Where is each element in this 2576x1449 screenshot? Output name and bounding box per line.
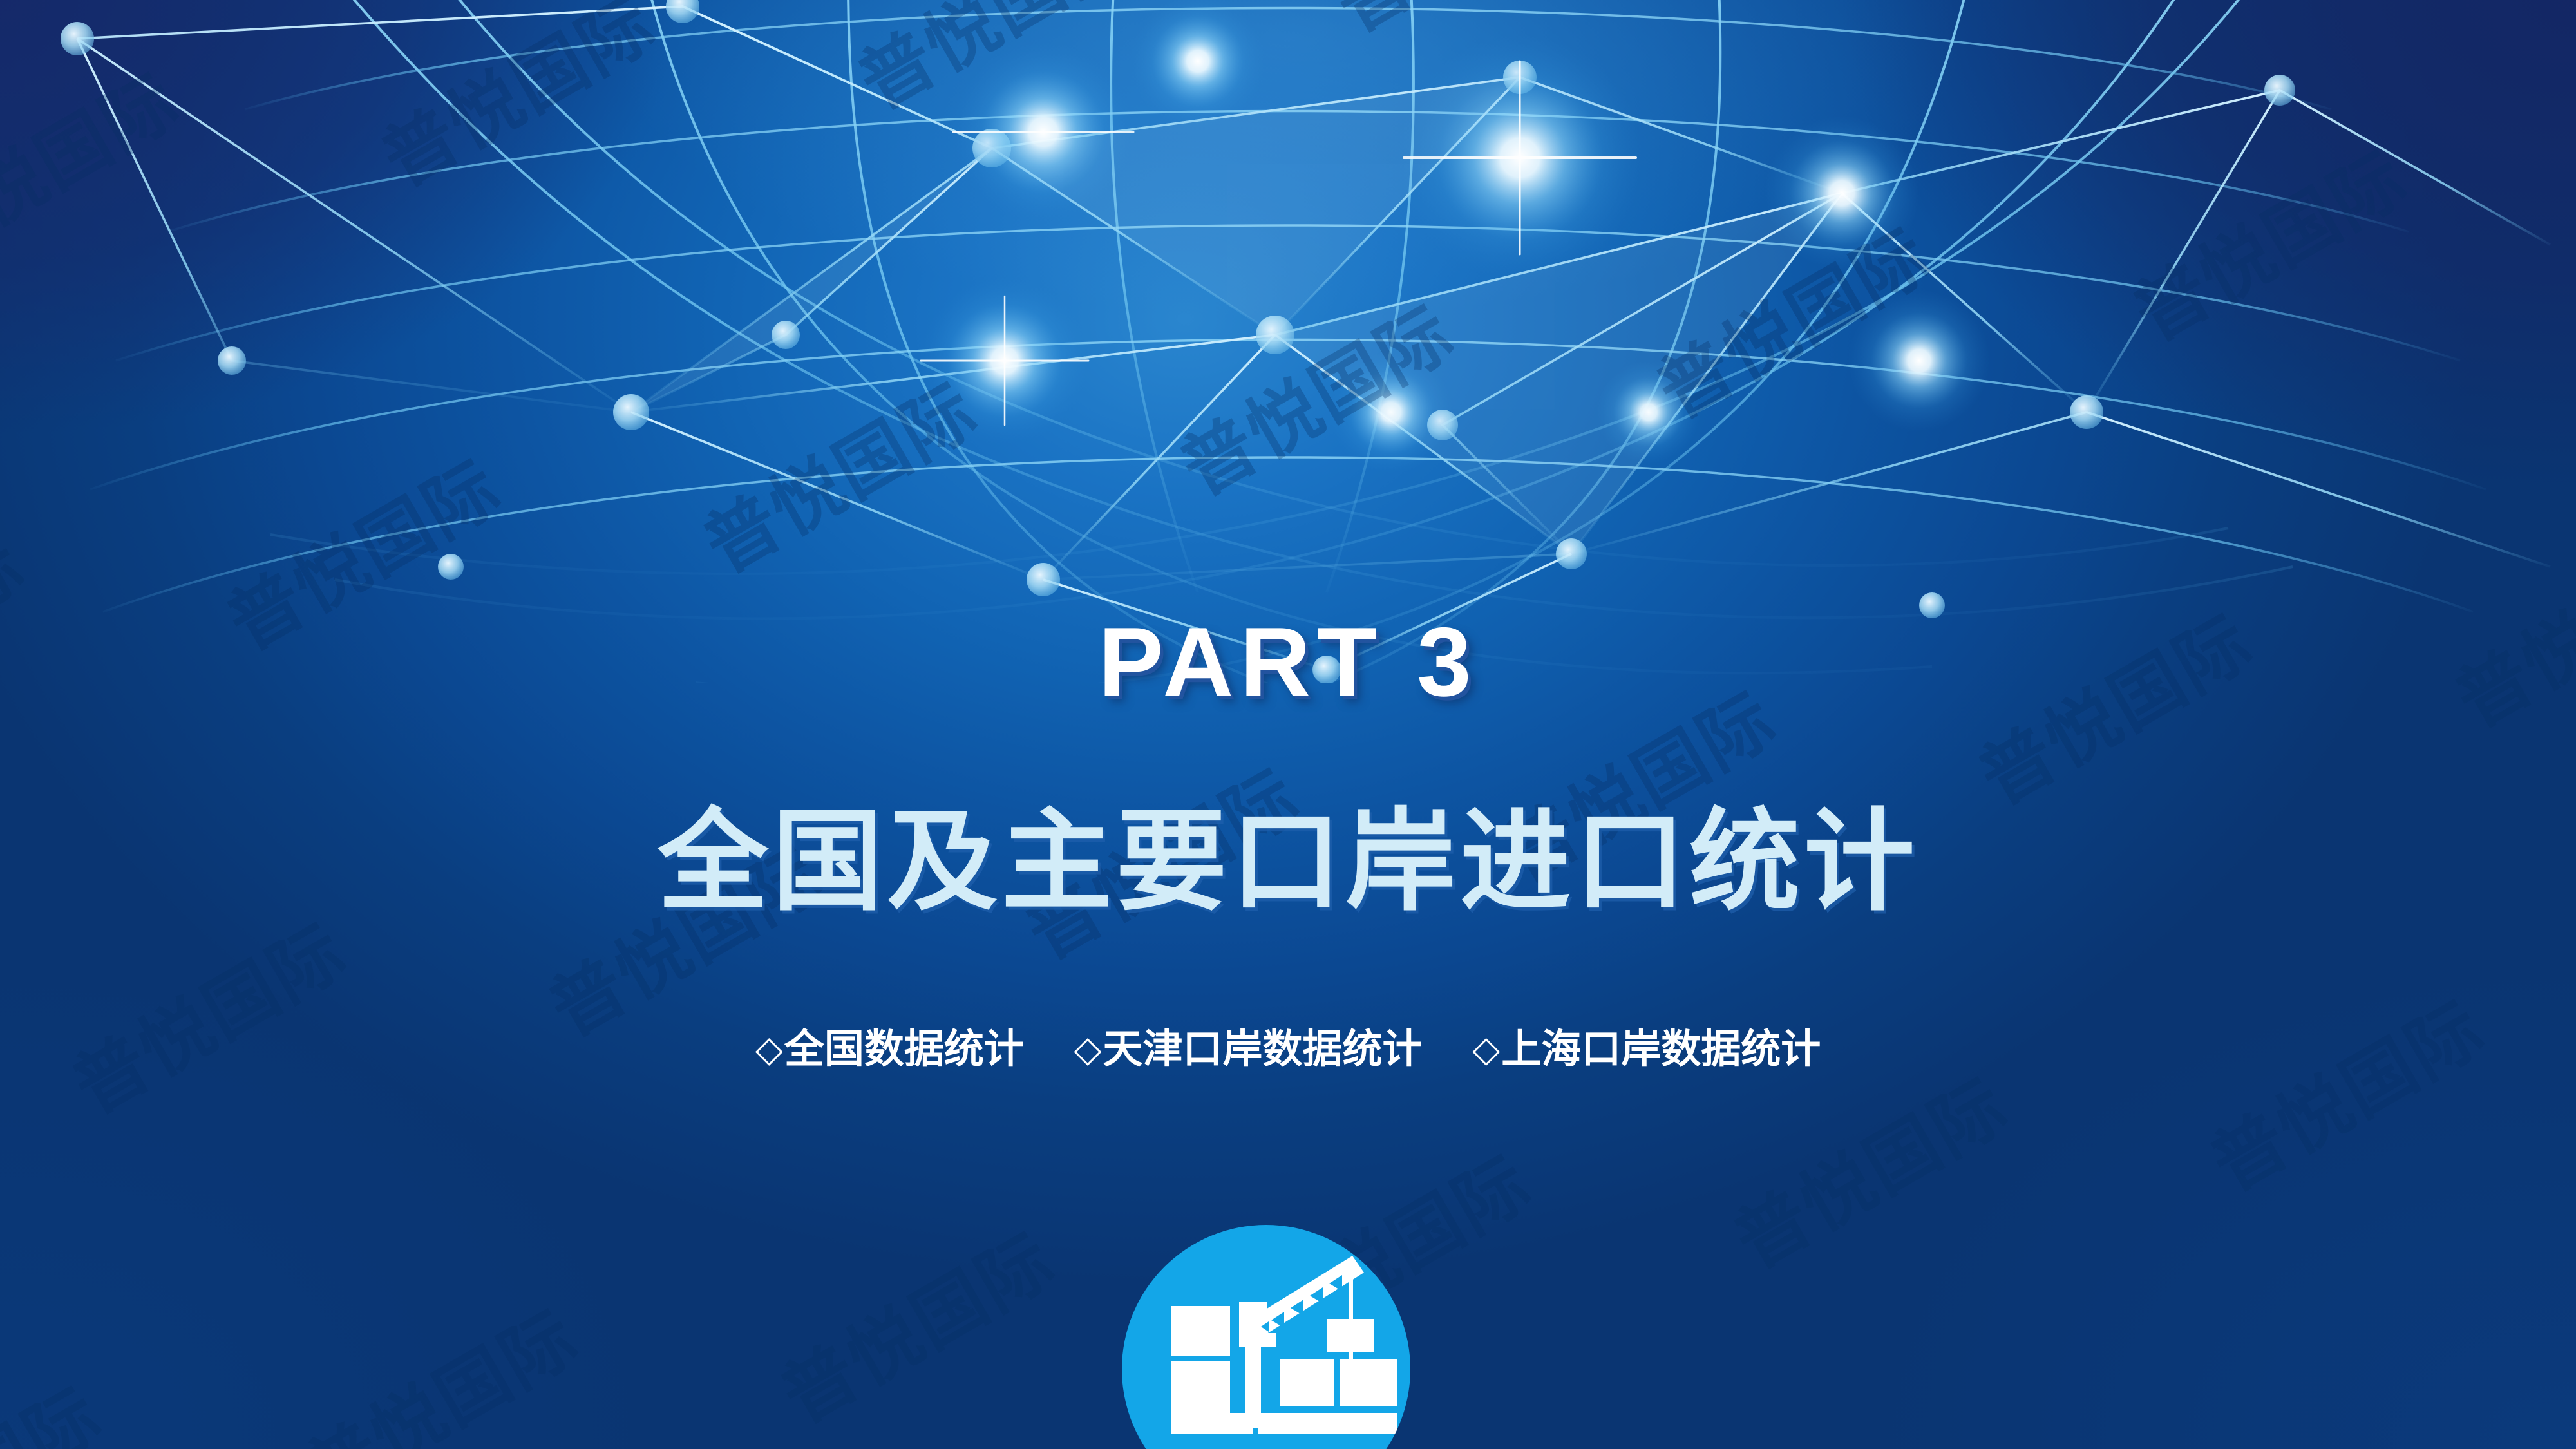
part-number-heading: PART 3 bbox=[0, 613, 2576, 711]
slide-content: PART 3 全国及主要口岸进口统计 ◇全国数据统计 ◇天津口岸数据统计 ◇上海… bbox=[0, 0, 2576, 1449]
port-crane-icon bbox=[1122, 1225, 1410, 1449]
diamond-bullet-icon: ◇ bbox=[755, 1032, 783, 1068]
agenda-item-label: 天津口岸数据统计 bbox=[1103, 1025, 1423, 1072]
agenda-item-tianjin[interactable]: ◇天津口岸数据统计 bbox=[1074, 1029, 1422, 1069]
agenda-item-label: 上海口岸数据统计 bbox=[1501, 1025, 1821, 1072]
agenda-item-shanghai[interactable]: ◇上海口岸数据统计 bbox=[1472, 1029, 1821, 1069]
page-title: 全国及主要口岸进口统计 bbox=[0, 802, 2576, 922]
diamond-bullet-icon: ◇ bbox=[1472, 1032, 1500, 1068]
agenda-item-label: 全国数据统计 bbox=[784, 1025, 1024, 1072]
agenda-item-national[interactable]: ◇全国数据统计 bbox=[755, 1029, 1024, 1069]
presentation-slide: 普悦国际 普悦国际 普悦国际 普悦国际 普悦国际 普悦国际 普悦国际 普悦国际 … bbox=[0, 0, 2576, 1449]
diamond-bullet-icon: ◇ bbox=[1074, 1032, 1101, 1068]
section-agenda-list: ◇全国数据统计 ◇天津口岸数据统计 ◇上海口岸数据统计 bbox=[0, 1029, 2576, 1069]
port-crane-badge bbox=[1122, 1225, 1410, 1449]
